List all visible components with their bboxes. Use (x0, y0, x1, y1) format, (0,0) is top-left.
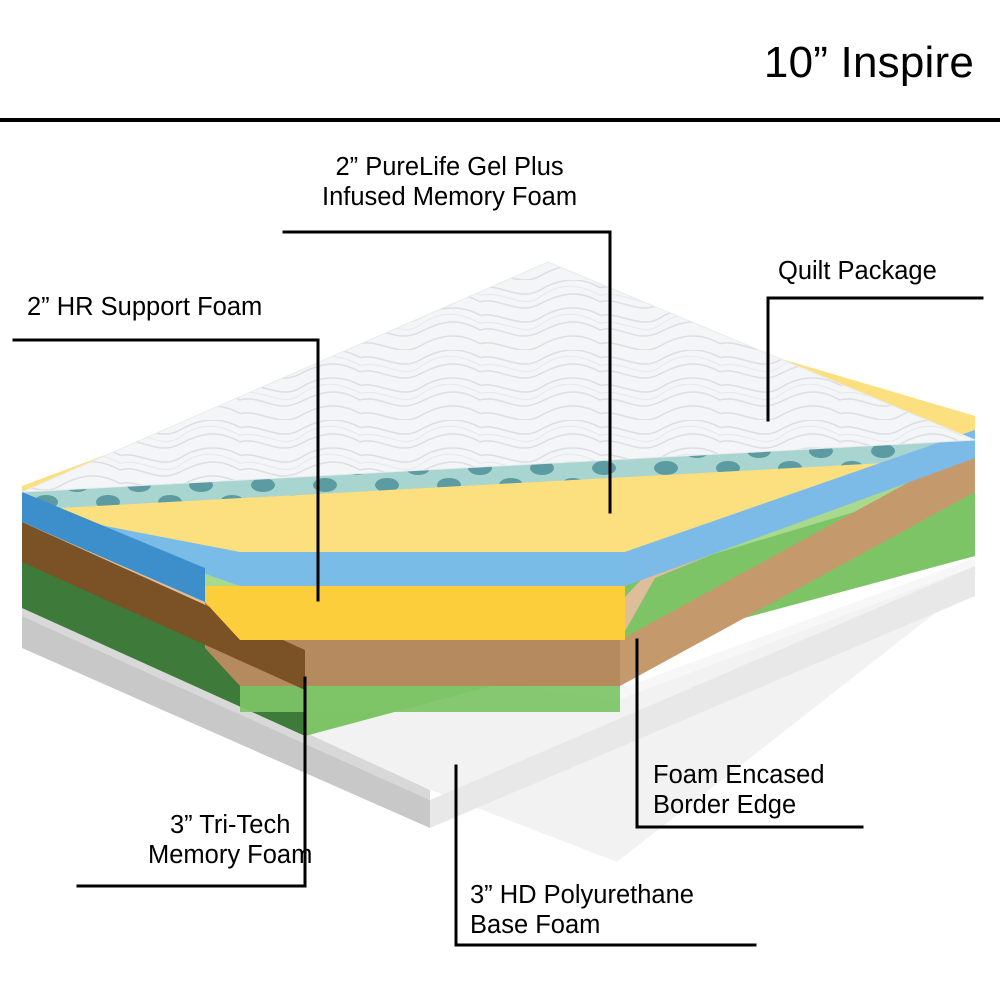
callout-tri-tech-memory-foam: 3” Tri-Tech Memory Foam (148, 810, 312, 870)
callout-gel-memory-foam: 2” PureLife Gel Plus Infused Memory Foam (322, 152, 577, 212)
mattress-spec-page: 10” Inspire (0, 0, 1000, 1000)
callout-quilt-package: Quilt Package (778, 256, 937, 286)
callout-hr-support-foam: 2” HR Support Foam (27, 292, 262, 322)
callout-foam-encased-border-edge: Foam Encased Border Edge (653, 760, 825, 820)
callout-hd-base-foam: 3” HD Polyurethane Base Foam (470, 880, 694, 940)
